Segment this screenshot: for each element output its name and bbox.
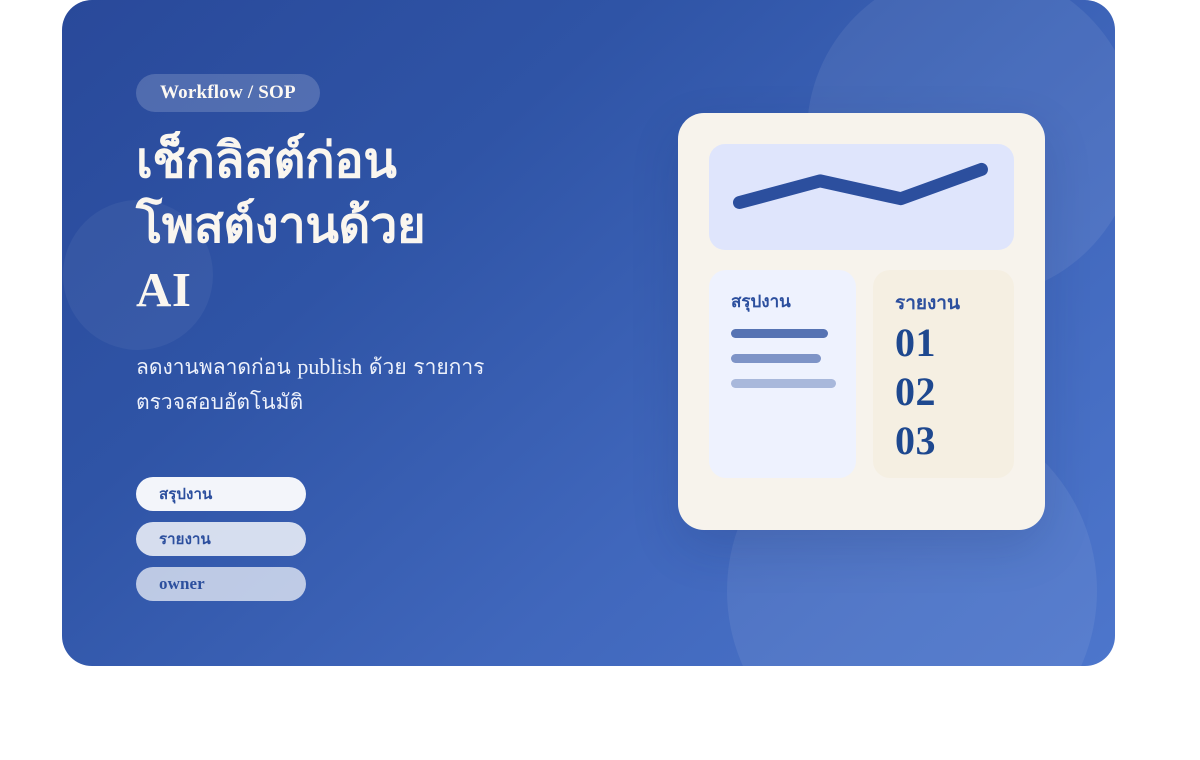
hero-panel: Workflow / SOP เช็กลิสต์ก่อน โพสต์งานด้ว… <box>62 0 1115 666</box>
report-number-list: 01 02 03 <box>895 319 994 465</box>
chip-owner-label: owner <box>159 574 205 594</box>
report-number-01: 01 <box>895 319 994 368</box>
page-title: เช็กลิสต์ก่อน โพสต์งานด้วย AI <box>136 129 536 323</box>
hero-text-column: Workflow / SOP เช็กลิสต์ก่อน โพสต์งานด้ว… <box>136 74 606 601</box>
report-panel-title: รายงาน <box>895 294 994 313</box>
headline-line-1: เช็กลิสต์ก่อน <box>136 132 396 189</box>
chip-owner[interactable]: owner <box>136 567 306 601</box>
chip-summary[interactable]: สรุปงาน <box>136 477 306 511</box>
subtitle-lead: ลดงานพลาดก่อน <box>136 355 297 379</box>
chart-trend-line <box>740 169 982 202</box>
summary-panel: สรุปงาน <box>709 270 856 478</box>
chip-report-label: รายงาน <box>159 527 211 551</box>
line-chart-svg <box>709 144 1014 250</box>
preview-card: สรุปงาน รายงาน 01 02 03 <box>678 113 1045 530</box>
card-panel-row: สรุปงาน รายงาน 01 02 03 <box>709 270 1014 478</box>
headline-line-2: โพสต์งานด้วย <box>136 197 425 254</box>
line-chart-panel <box>709 144 1014 250</box>
chip-report[interactable]: รายงาน <box>136 522 306 556</box>
hero-subtitle: ลดงานพลาดก่อน publish ด้วย รายการตรวจสอบ… <box>136 349 486 419</box>
tag-chip-list: สรุปงาน รายงาน owner <box>136 477 606 601</box>
summary-bar-1 <box>731 329 828 338</box>
summary-bar-3 <box>731 379 836 388</box>
headline-line-3: AI <box>136 262 191 317</box>
subtitle-latin-word: publish <box>297 354 362 379</box>
summary-bar-2 <box>731 354 821 363</box>
category-badge: Workflow / SOP <box>136 74 320 112</box>
screenshot-canvas: Workflow / SOP เช็กลิสต์ก่อน โพสต์งานด้ว… <box>0 0 1200 760</box>
summary-panel-title: สรุปงาน <box>731 294 836 311</box>
chip-summary-label: สรุปงาน <box>159 482 212 506</box>
report-number-02: 02 <box>895 368 994 417</box>
report-panel: รายงาน 01 02 03 <box>873 270 1014 478</box>
report-number-03: 03 <box>895 417 994 466</box>
